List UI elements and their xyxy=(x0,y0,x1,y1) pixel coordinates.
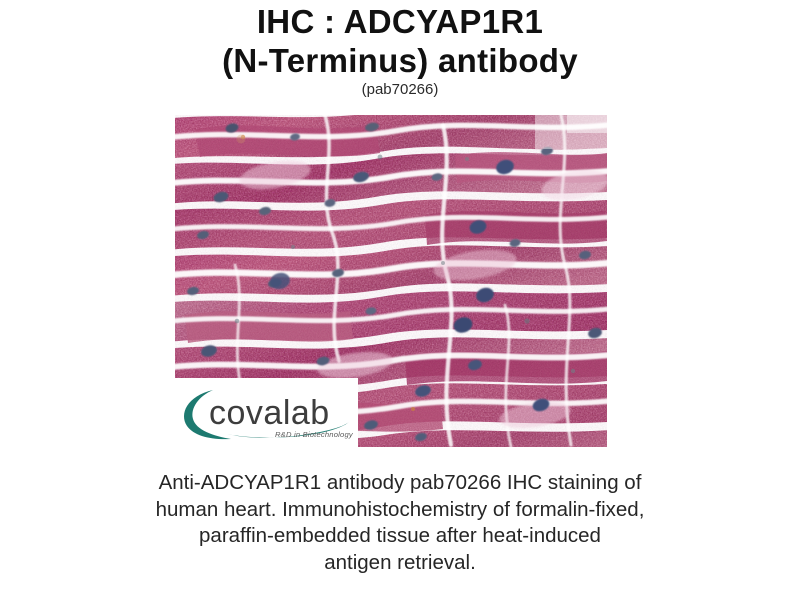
figure-title-block: IHC : ADCYAP1R1 (N-Terminus) antibody (p… xyxy=(0,2,800,98)
page-title-line-1: IHC : ADCYAP1R1 xyxy=(0,2,800,41)
covalab-logo-plate: covalab R&D in Biotechnology xyxy=(175,378,358,447)
figure-caption: Anti-ADCYAP1R1 antibody pab70266 IHC sta… xyxy=(70,470,730,576)
catalog-number: (pab70266) xyxy=(0,81,800,98)
figure-page: IHC : ADCYAP1R1 (N-Terminus) antibody (p… xyxy=(0,0,800,600)
logo-wordmark: covalab xyxy=(209,394,330,432)
ihc-micrograph: covalab R&D in Biotechnology xyxy=(175,115,607,447)
covalab-logo-mark: covalab R&D in Biotechnology xyxy=(179,384,355,442)
caption-line: paraffin-embedded tissue after heat-indu… xyxy=(70,523,730,550)
caption-line: Anti-ADCYAP1R1 antibody pab70266 IHC sta… xyxy=(70,470,730,497)
caption-line: human heart. Immunohistochemistry of for… xyxy=(70,497,730,524)
page-title-line-2: (N-Terminus) antibody xyxy=(0,41,800,80)
caption-line: antigen retrieval. xyxy=(70,550,730,577)
logo-tagline: R&D in Biotechnology xyxy=(275,430,354,439)
